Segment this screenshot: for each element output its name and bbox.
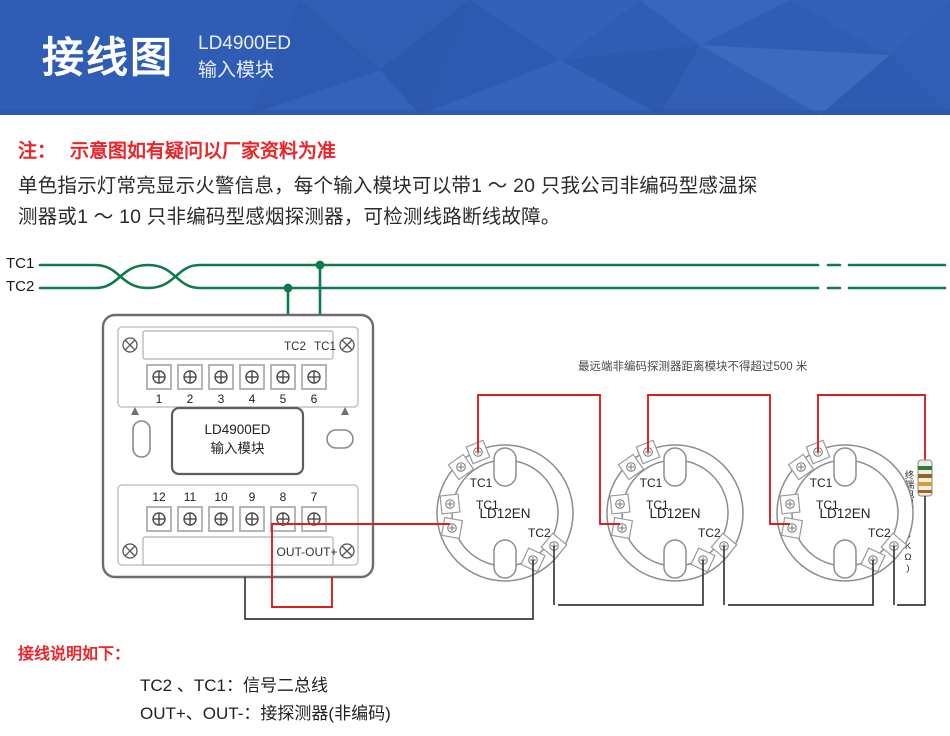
detector-1-tc2-label: TC2 [528,526,551,540]
module-corner-screw-tr [340,338,354,352]
legend-row-tc: TC2 、TC1：信号二总线 [140,672,918,700]
detector-1: LD12EN TC1 TC1 TC2 [437,440,573,581]
diagram-svg: TC2 TC1 1 2 3 4 [0,245,950,635]
indicator-led-left [133,421,150,457]
module-corner-screw-bl [123,544,137,558]
header-model: LD4900ED [198,31,291,58]
detector-1-slot-bottom [494,540,516,578]
detector-2-tc1-top-label: TC1 [640,476,663,490]
note-label: 注： [18,141,56,162]
signal-bus-wires [40,265,945,317]
detector-1-tc1-top-label: TC1 [470,476,493,490]
terminal-num-11: 11 [184,490,197,504]
detector-1-slot-top [494,448,516,486]
module-corner-screw-tl [123,338,137,352]
detector-3-tc2-label: TC2 [868,526,891,540]
detector-group: LD12EN TC1 TC1 TC2 [437,440,913,581]
header-subtitle-group: LD4900ED 输入模块 [198,31,291,85]
wiring-diagram-page: 接线图 LD4900ED 输入模块 注：示意图如有疑问以厂家资料为准 单色指示灯… [0,0,950,736]
note-warning-text: 示意图如有疑问以厂家资料为准 [70,141,336,162]
module-port-tc2-label: TC2 [284,341,306,353]
note-body: 单色指示灯常亮显示火警信息，每个输入模块可以带1 ～ 20 只我公司非编码型感温… [18,171,936,234]
detector-2-slot-bottom [664,540,686,578]
terminal-num-9: 9 [249,490,256,504]
detector-2-tc1-left-label: TC1 [646,498,669,512]
terminal-num-6: 6 [311,392,318,406]
detector-3: LD12EN TC1 TC1 TC2 [777,440,913,581]
note-block: 注：示意图如有疑问以厂家资料为准 单色指示灯常亮显示火警信息，每个输入模块可以带… [18,138,936,234]
diagram-canvas: TC2 TC1 1 2 3 4 [0,245,950,630]
legend-row-out: OUT+、OUT-：接探测器(非编码) [140,700,918,728]
module-port-tc1-label: TC1 [314,341,336,353]
page-header: 接线图 LD4900ED 输入模块 [0,0,950,115]
module-name-text: LD4900ED [204,422,270,437]
module-top-terminal-block: TC2 TC1 1 2 3 4 [118,327,358,407]
detector-3-tc1-left-label: TC1 [816,498,839,512]
terminal-num-8: 8 [280,490,287,504]
terminal-num-4: 4 [249,392,256,406]
terminal-resistor [918,460,932,496]
detector-2: LD12EN TC1 TC1 TC2 [607,440,743,581]
note-warning-line: 注：示意图如有疑问以厂家资料为准 [18,138,936,167]
detector-1-tc1-left-label: TC1 [476,498,499,512]
module-type-text: 输入模块 [211,441,265,456]
terminal-num-2: 2 [187,392,194,406]
terminal-num-7: 7 [311,490,318,504]
terminal-num-10: 10 [214,490,228,504]
detector-2-slot-top [664,448,686,486]
header-subtitle: 输入模块 [198,58,291,85]
detector-3-slot-bottom [834,540,856,578]
note-body-line-1: 单色指示灯常亮显示火警信息，每个输入模块可以带1 ～ 20 只我公司非编码型感温… [18,171,936,203]
note-body-line-2: 测器或1 ～ 10 只非编码型感烟探测器，可检测线路断线故障。 [18,202,936,234]
legend-rows: TC2 、TC1：信号二总线 OUT+、OUT-：接探测器(非编码) [18,672,918,727]
terminal-num-12: 12 [152,490,166,504]
input-module: TC2 TC1 1 2 3 4 [103,315,373,577]
detector-3-tc1-top-label: TC1 [810,476,833,490]
legend-block: 接线说明如下： TC2 、TC1：信号二总线 OUT+、OUT-：接探测器(非编… [18,643,918,727]
detector-2-tc2-label: TC2 [698,526,721,540]
header-title: 接线图 [42,37,174,79]
module-corner-screw-br [340,544,354,558]
module-out-port-label: OUT-OUT+ [276,545,337,559]
terminal-num-5: 5 [280,392,287,406]
detector-3-slot-top [834,448,856,486]
indicator-led-right [327,430,353,448]
legend-title: 接线说明如下： [18,643,918,667]
terminal-num-1: 1 [156,392,163,406]
terminal-num-3: 3 [218,392,225,406]
module-bottom-terminal-block: 12 11 10 9 8 7 OUT-OUT+ [118,485,358,565]
